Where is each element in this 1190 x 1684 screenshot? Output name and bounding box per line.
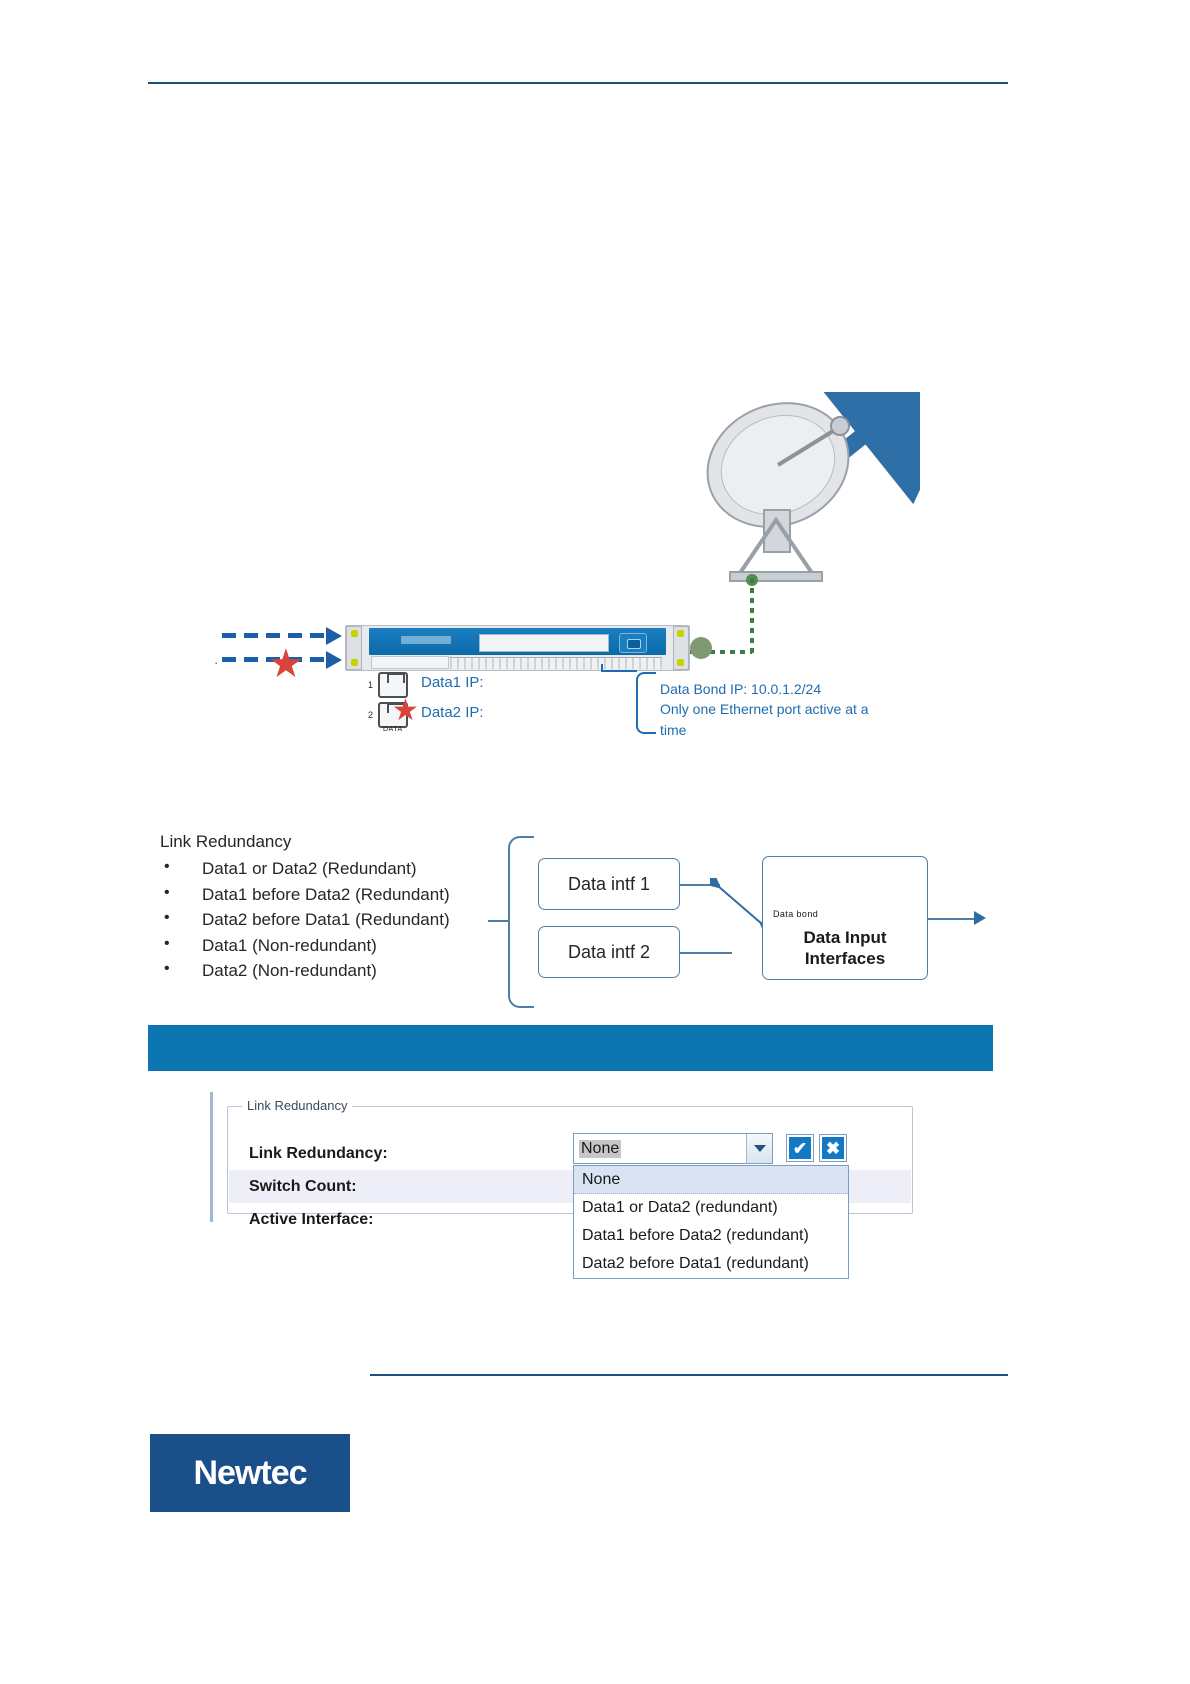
data-input-line-1: Data Input xyxy=(763,927,927,948)
link-redundancy-select[interactable]: None xyxy=(573,1133,773,1164)
modem-chassis xyxy=(345,625,690,671)
data-intf-2-box: Data intf 2 xyxy=(538,926,680,978)
data-bond-label: Data bond xyxy=(773,909,818,919)
incoming-link-1 xyxy=(222,633,328,638)
star-marker-left-icon: ★ xyxy=(268,644,304,684)
link-redundancy-dropdown-list[interactable]: None Data1 or Data2 (redundant) Data1 be… xyxy=(573,1165,849,1279)
newtec-logo-text: Newtec xyxy=(193,1454,306,1493)
close-icon: ✖ xyxy=(826,1140,840,1157)
data2-ip-label: Data2 IP: xyxy=(421,704,484,721)
bond-note-line-3: time xyxy=(660,720,910,740)
dish-to-modem-cable xyxy=(750,578,754,656)
data-input-output-stub xyxy=(928,918,976,920)
active-interface-field-label: Active Interface: xyxy=(229,1211,559,1229)
bond-callout-stem xyxy=(601,670,637,672)
data-input-output-arrow-icon xyxy=(974,911,986,925)
data-intf-1-box: Data intf 1 xyxy=(538,858,680,910)
incoming-arrow-2-icon xyxy=(326,651,342,669)
dropdown-option-data1-or-data2[interactable]: Data1 or Data2 (redundant) xyxy=(574,1194,848,1222)
data1-ip-label: Data1 IP: xyxy=(421,674,484,691)
chassis-left-ports xyxy=(371,656,449,669)
data-intf-1-label: Data intf 1 xyxy=(568,874,650,895)
data-input-interfaces-title: Data Input Interfaces xyxy=(763,927,927,970)
bond-callout-note: Data Bond IP: 10.0.1.2/24 Only one Ether… xyxy=(660,679,910,740)
ethernet-port-1-number: 1 xyxy=(368,680,373,690)
dropdown-option-data1-before-data2[interactable]: Data1 before Data2 (redundant) xyxy=(574,1222,848,1250)
bond-note-line-2: Only one Ethernet port active at a xyxy=(660,699,910,719)
star-marker-port-icon: ★ xyxy=(392,696,419,726)
list-item: Data1 or Data2 (Redundant) xyxy=(160,856,560,882)
chassis-rack-ear-right xyxy=(673,626,689,670)
section-banner xyxy=(148,1025,993,1071)
check-icon: ✔ xyxy=(793,1140,807,1157)
dropdown-option-data2-before-data1[interactable]: Data2 before Data1 (redundant) xyxy=(574,1250,848,1278)
switch-count-field-label: Switch Count: xyxy=(229,1178,559,1196)
chassis-rf-connector xyxy=(690,637,712,659)
data-intf-2-label: Data intf 2 xyxy=(568,942,650,963)
satellite-dish-icon xyxy=(660,390,950,590)
chassis-control-knob xyxy=(619,633,647,653)
chassis-faceplate xyxy=(369,628,666,655)
ethernet-port-2-number: 2 xyxy=(368,710,373,720)
bond-note-line-1: Data Bond IP: 10.0.1.2/24 xyxy=(660,679,910,699)
bond-callout-brace xyxy=(636,672,656,734)
link-redundancy-legend-title: Link Redundancy xyxy=(160,832,560,852)
cancel-button[interactable]: ✖ xyxy=(820,1135,846,1161)
link-redundancy-legend: Link Redundancy Data1 or Data2 (Redundan… xyxy=(160,832,560,984)
ethernet-port-caption: DATA xyxy=(383,726,403,733)
chassis-brand-tag xyxy=(401,636,451,644)
link-redundancy-select-value: None xyxy=(579,1140,621,1158)
page-footer-rule xyxy=(370,1374,1008,1376)
options-group-brace xyxy=(508,836,534,1008)
chassis-display xyxy=(479,634,609,652)
newtec-logo: Newtec xyxy=(150,1434,350,1512)
list-item: Data1 before Data2 (Redundant) xyxy=(160,882,560,908)
data-input-interfaces-box: Data bond Data Input Interfaces xyxy=(762,856,928,980)
incoming-link-dots: · xyxy=(214,655,218,670)
satellite-modem-diagram: · ★ 1 2 DATA ★ Data1 IP: Data2 IP: Data … xyxy=(0,0,1190,800)
intf2-connector-stub xyxy=(680,952,732,954)
bond-double-arrow-icon xyxy=(710,878,770,930)
fieldset-legend: Link Redundancy xyxy=(242,1098,352,1113)
data-input-line-2: Interfaces xyxy=(763,948,927,969)
dropdown-option-none[interactable]: None xyxy=(574,1166,848,1194)
chassis-rack-ear-left xyxy=(346,626,362,670)
list-item: Data2 (Non-redundant) xyxy=(160,958,560,984)
list-item: Data1 (Non-redundant) xyxy=(160,933,560,959)
options-group-brace-stem xyxy=(488,920,510,922)
chevron-down-icon[interactable] xyxy=(746,1134,772,1163)
link-redundancy-field-label: Link Redundancy: xyxy=(229,1145,559,1163)
incoming-arrow-1-icon xyxy=(326,627,342,645)
confirm-button[interactable]: ✔ xyxy=(787,1135,813,1161)
